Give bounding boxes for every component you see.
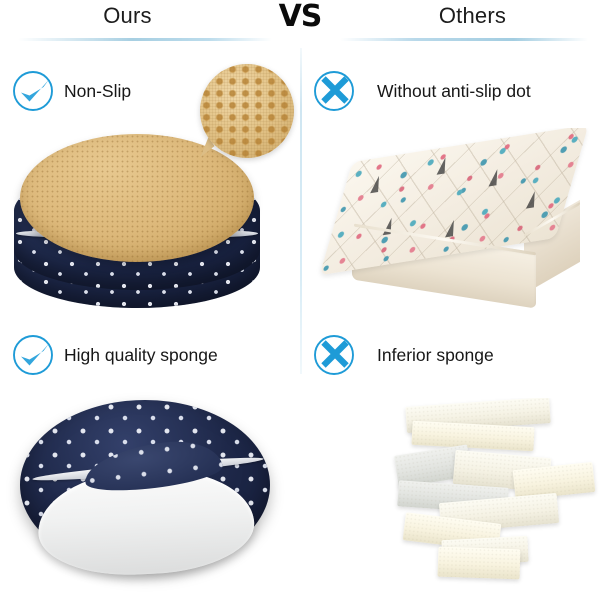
column-divider [300,48,302,374]
feature-label-non-slip: Non-Slip [64,81,131,102]
sponge-piece [438,547,521,580]
x-circle-icon [313,70,355,112]
feature-label-without-anti-slip-dot: Without anti-slip dot [377,81,531,102]
feature-row-without-anti-slip-dot: Without anti-slip dot [313,70,531,112]
feature-row-inferior-sponge: Inferior sponge [313,334,494,376]
column-title-others: Others [385,3,560,29]
comparison-infographic: Ours VS Others Non-Slip Without anti-sli… [0,0,600,606]
product-photo-open-cushion [6,392,286,598]
magnifier-callout [196,62,300,166]
vs-badge: VS [266,0,334,34]
square-mattress-illustration [330,146,580,306]
check-circle-icon [12,334,54,376]
header-rule-right [340,38,588,41]
sponge-piece [411,421,534,451]
x-circle-icon [313,334,355,376]
feature-label-high-quality-sponge: High quality sponge [64,345,218,366]
column-title-ours: Ours [40,3,215,29]
header-rule-left [18,38,272,41]
feature-label-inferior-sponge: Inferior sponge [377,345,494,366]
product-photo-sponge-pile [382,398,600,598]
feature-row-high-quality-sponge: High quality sponge [12,334,218,376]
anti-slip-dot-closeup [200,64,294,158]
comparison-header: Ours VS Others [0,0,600,44]
check-circle-icon [12,70,54,112]
feature-row-non-slip: Non-Slip [12,70,131,112]
product-photo-square-mattress [312,128,596,322]
